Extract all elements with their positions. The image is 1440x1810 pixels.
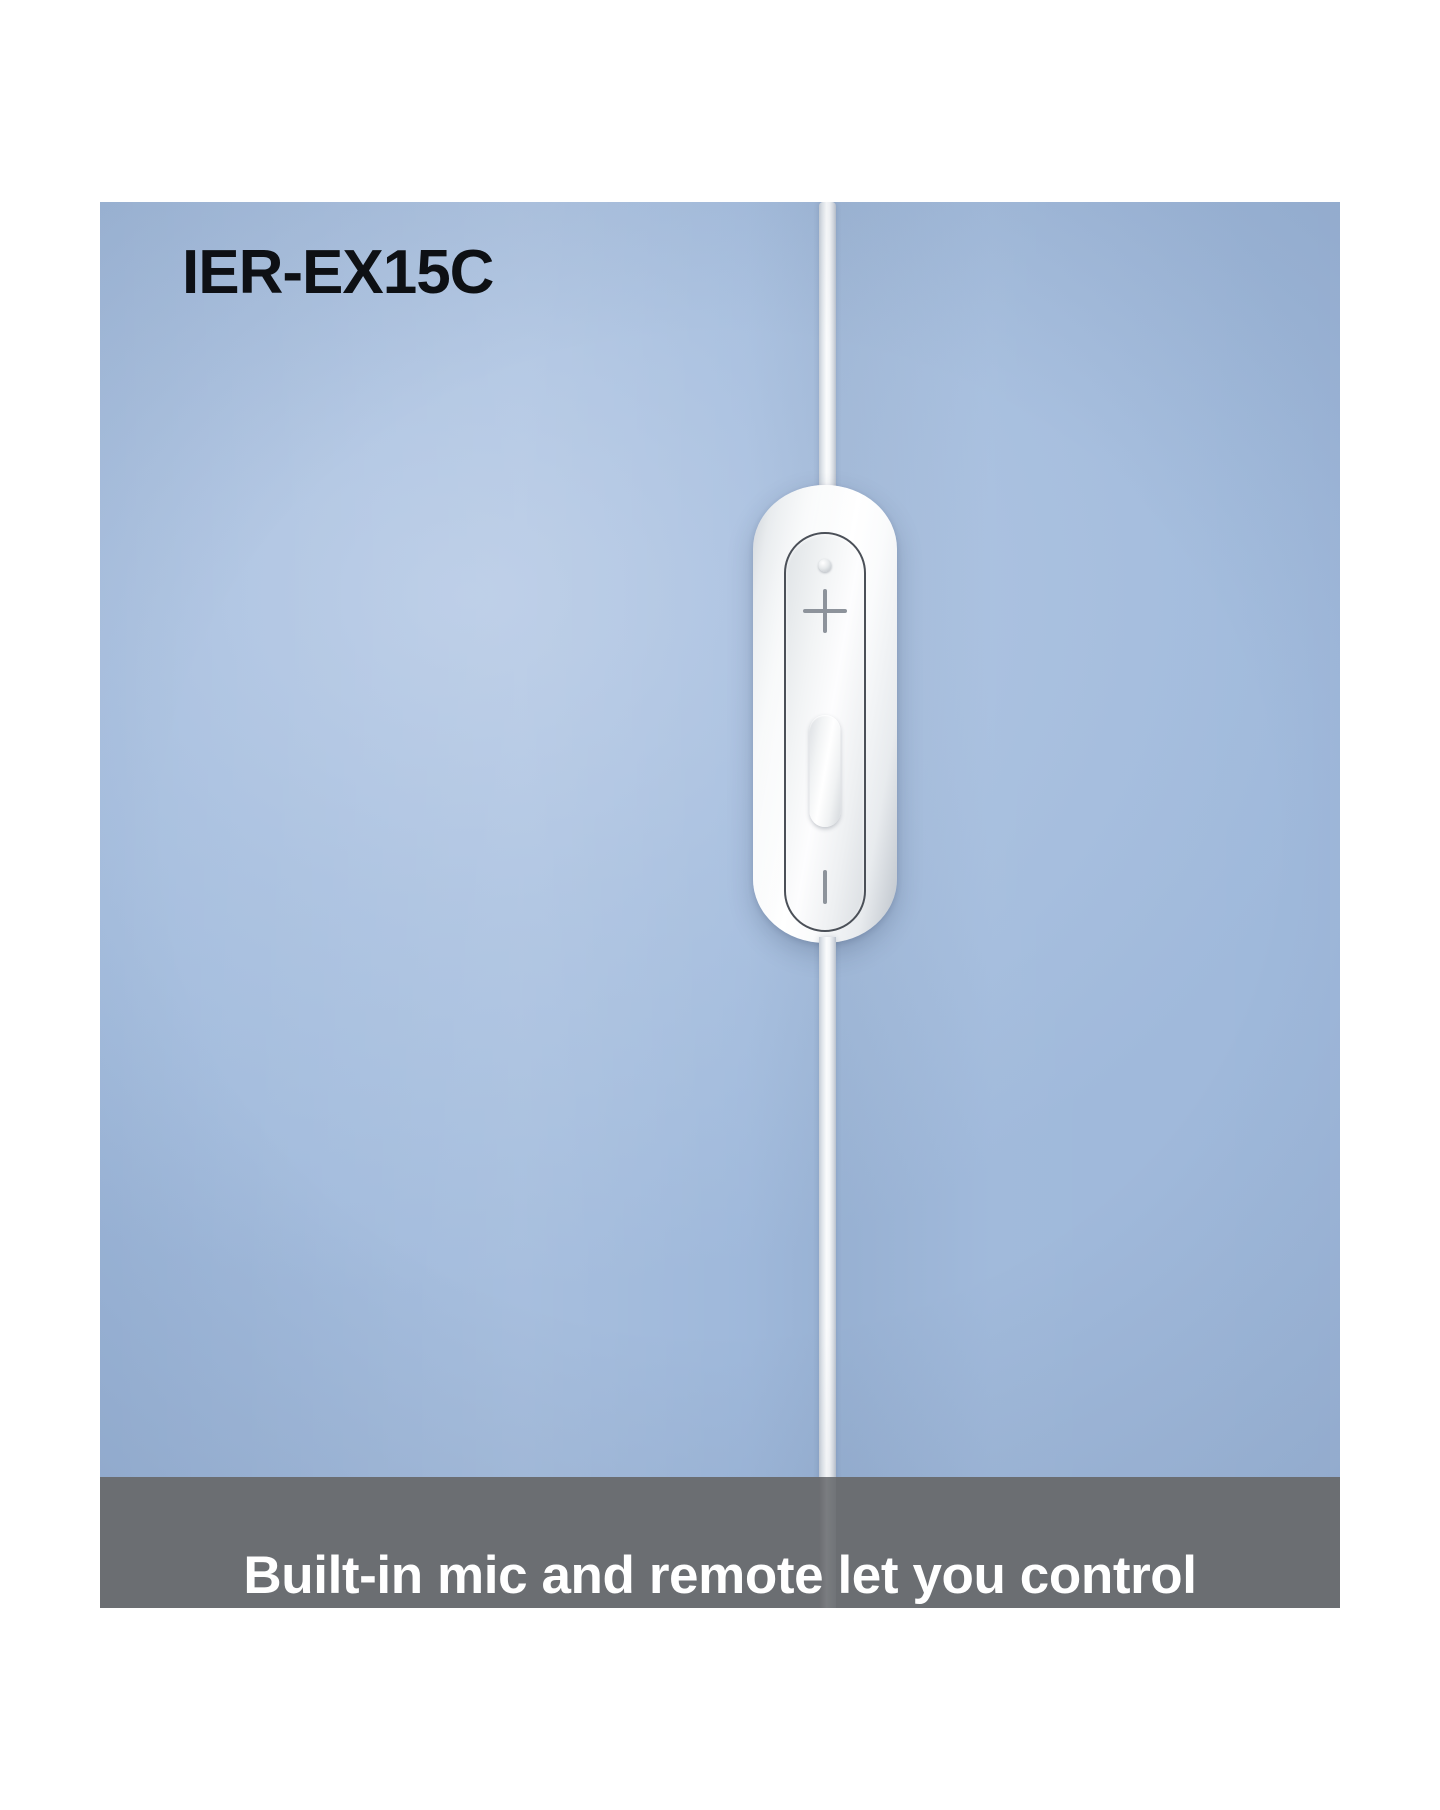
multifunction-center-button[interactable]	[810, 715, 841, 827]
model-name-label: IER-EX15C	[182, 242, 493, 304]
caption-banner: Built-in mic and remote let you control …	[100, 1477, 1340, 1608]
caption-text: Built-in mic and remote let you control …	[170, 1545, 1270, 1608]
microphone-pinhole-icon	[819, 559, 832, 572]
volume-down-icon[interactable]	[823, 870, 827, 904]
remote-button-panel	[784, 532, 866, 932]
product-photo: IER-EX15C Built-in mic and remote let yo…	[100, 202, 1340, 1608]
volume-up-icon[interactable]	[803, 589, 847, 633]
background-wall-seam	[100, 202, 1340, 1608]
inline-remote-module	[753, 485, 897, 943]
caption-line-1: Built-in mic and remote let you control	[170, 1545, 1270, 1608]
photo-vignette	[100, 202, 1340, 1608]
cable-upper-segment	[819, 202, 836, 490]
product-feature-image: IER-EX15C Built-in mic and remote let yo…	[100, 0, 1340, 1810]
